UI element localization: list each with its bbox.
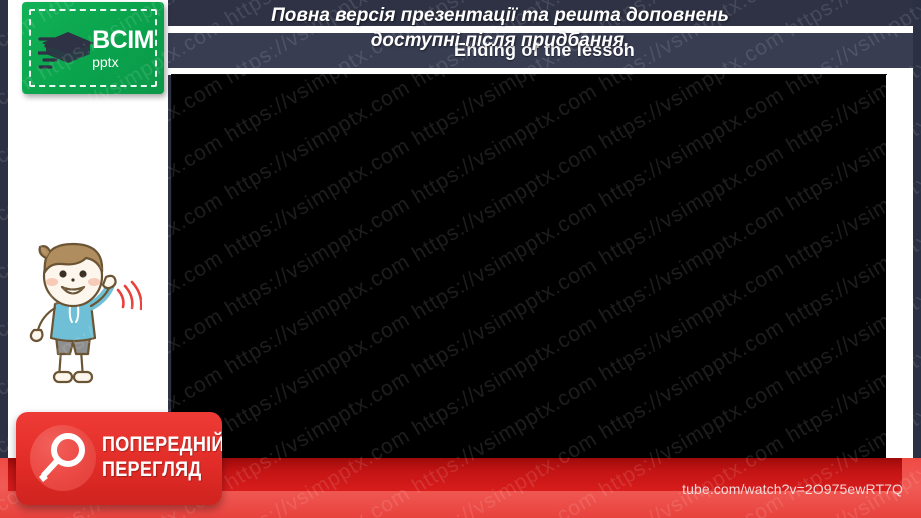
waving-boy-illustration	[14, 232, 142, 404]
right-white-margin	[886, 75, 913, 467]
left-edge-strip	[0, 0, 8, 518]
logo-wordmark: BCIM pptx	[92, 28, 154, 70]
purchase-banner-line1: Повна версія презентації та решта доповн…	[180, 3, 820, 28]
preview-badge[interactable]: ПОПЕРЕДНІЙ ПЕРЕГЛЯД	[16, 412, 222, 505]
embedded-video-player[interactable]	[172, 75, 886, 467]
preview-badge-line1: ПОПЕРЕДНІЙ	[102, 432, 222, 457]
video-url-text: tube.com/watch?v=2O975ewRT7Q	[682, 481, 903, 497]
preview-badge-line2: ПЕРЕГЛЯД	[102, 457, 222, 482]
logo-name: BCIM	[92, 28, 154, 53]
slide-canvas: Ending of the lesson	[0, 0, 921, 518]
title-bottom-rule	[168, 68, 921, 75]
logo-suffix: pptx	[92, 54, 154, 70]
right-edge-strip	[913, 0, 921, 518]
purchase-banner-text: Повна версія презентації та решта доповн…	[180, 3, 820, 53]
bcim-logo[interactable]: BCIM pptx	[22, 2, 164, 94]
graduation-cap-speed-icon	[38, 30, 100, 74]
preview-badge-label: ПОПЕРЕДНІЙ ПЕРЕГЛЯД	[102, 432, 222, 482]
magnifier-icon	[30, 425, 96, 491]
purchase-banner-line2: доступні після придбання.	[180, 28, 820, 53]
